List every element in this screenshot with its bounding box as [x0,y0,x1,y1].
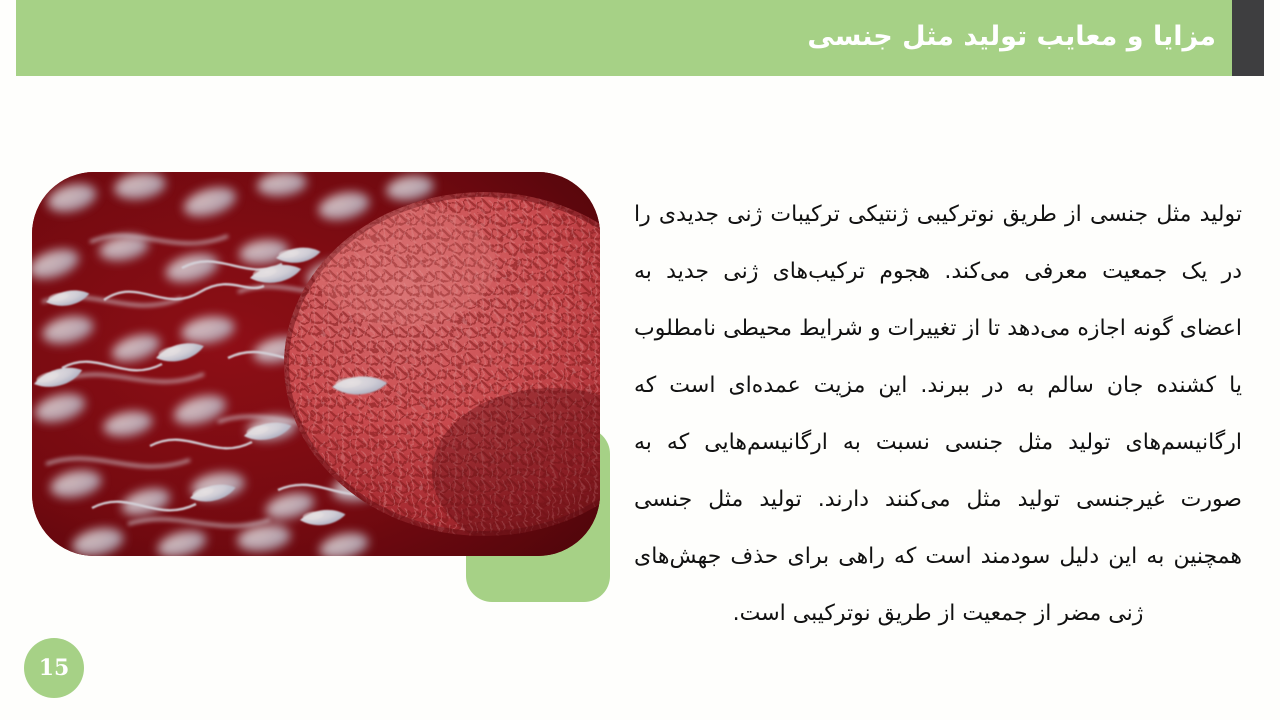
fertilization-photo [32,172,600,556]
page-number-label: 15 [39,655,70,681]
slide-root: مزایا و معایب تولید مثل جنسی [0,0,1280,720]
page-number-badge: 15 [24,638,84,698]
body-paragraph: تولید مثل جنسی از طریق نوترکیبی ژنتیکی ت… [634,186,1242,642]
page-title: مزایا و معایب تولید مثل جنسی [316,16,1216,58]
fertilization-illustration [32,172,600,556]
header-accent-block [1232,0,1264,76]
